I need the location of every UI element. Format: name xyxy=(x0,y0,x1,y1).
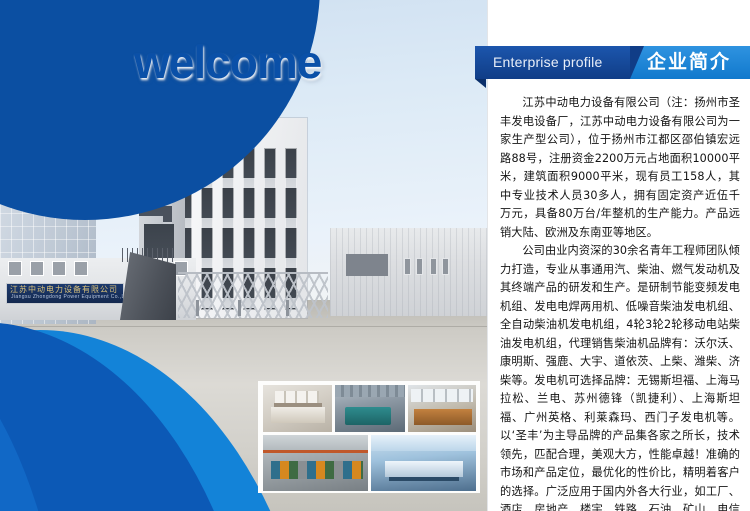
profile-paragraph-2: 公司由业内资深的30余名青年工程师团队倾力打造，专业从事通用汽、柴油、燃气发动机… xyxy=(500,242,740,511)
header-english-label: Enterprise profile xyxy=(493,53,602,72)
bollard xyxy=(238,300,241,316)
profile-body-text: 江苏中动电力设备有限公司（注：扬州市圣丰发电设备厂，江苏中动电力设备有限公司为一… xyxy=(500,94,740,511)
enterprise-profile-header: Enterprise profile 企业简介 xyxy=(475,46,750,79)
thumbnail-collage xyxy=(258,381,480,493)
front-window xyxy=(74,261,88,276)
warehouse-building xyxy=(330,228,487,316)
thumbnail-row-top xyxy=(263,385,476,432)
bollard xyxy=(196,300,199,316)
retractable-gate xyxy=(178,272,328,318)
thumb-production-line[interactable] xyxy=(263,435,368,491)
company-gate-signboard: 江苏中动电力设备有限公司 Jiangsu Zhongdong Power Equ… xyxy=(6,283,124,304)
warehouse-window xyxy=(442,258,449,275)
company-photo-collage: 中动电力 江苏 xyxy=(0,0,487,511)
thumb-generator-workshop[interactable] xyxy=(335,385,404,432)
warehouse-window xyxy=(416,258,423,275)
warehouse-window xyxy=(430,258,437,275)
thumb-office-meeting[interactable] xyxy=(263,385,332,432)
gate-sign-chinese: 江苏中动电力设备有限公司 xyxy=(10,285,118,294)
thumb-sales-office[interactable] xyxy=(408,385,476,432)
bollard xyxy=(286,300,289,316)
page-root: 中动电力 江苏 xyxy=(0,0,750,511)
thumb-conference-room[interactable] xyxy=(371,435,476,491)
thumbnail-row-bottom xyxy=(263,435,476,491)
profile-paragraph-1: 江苏中动电力设备有限公司（注：扬州市圣丰发电设备厂，江苏中动电力设备有限公司为一… xyxy=(500,94,740,242)
gate-sign-english: Jiangsu Zhongdong Power Equipment Co.,Lt… xyxy=(11,294,124,301)
front-window xyxy=(30,261,44,276)
header-chinese-label: 企业简介 xyxy=(647,50,731,75)
warehouse-window xyxy=(404,258,411,275)
header-tail-triangle xyxy=(475,79,486,88)
front-window xyxy=(8,261,22,276)
front-window xyxy=(52,261,66,276)
enterprise-profile-panel: Enterprise profile 企业简介 江苏中动电力设备有限公司（注：扬… xyxy=(487,0,750,511)
warehouse-door xyxy=(346,254,388,276)
welcome-title: welcome xyxy=(134,36,321,88)
